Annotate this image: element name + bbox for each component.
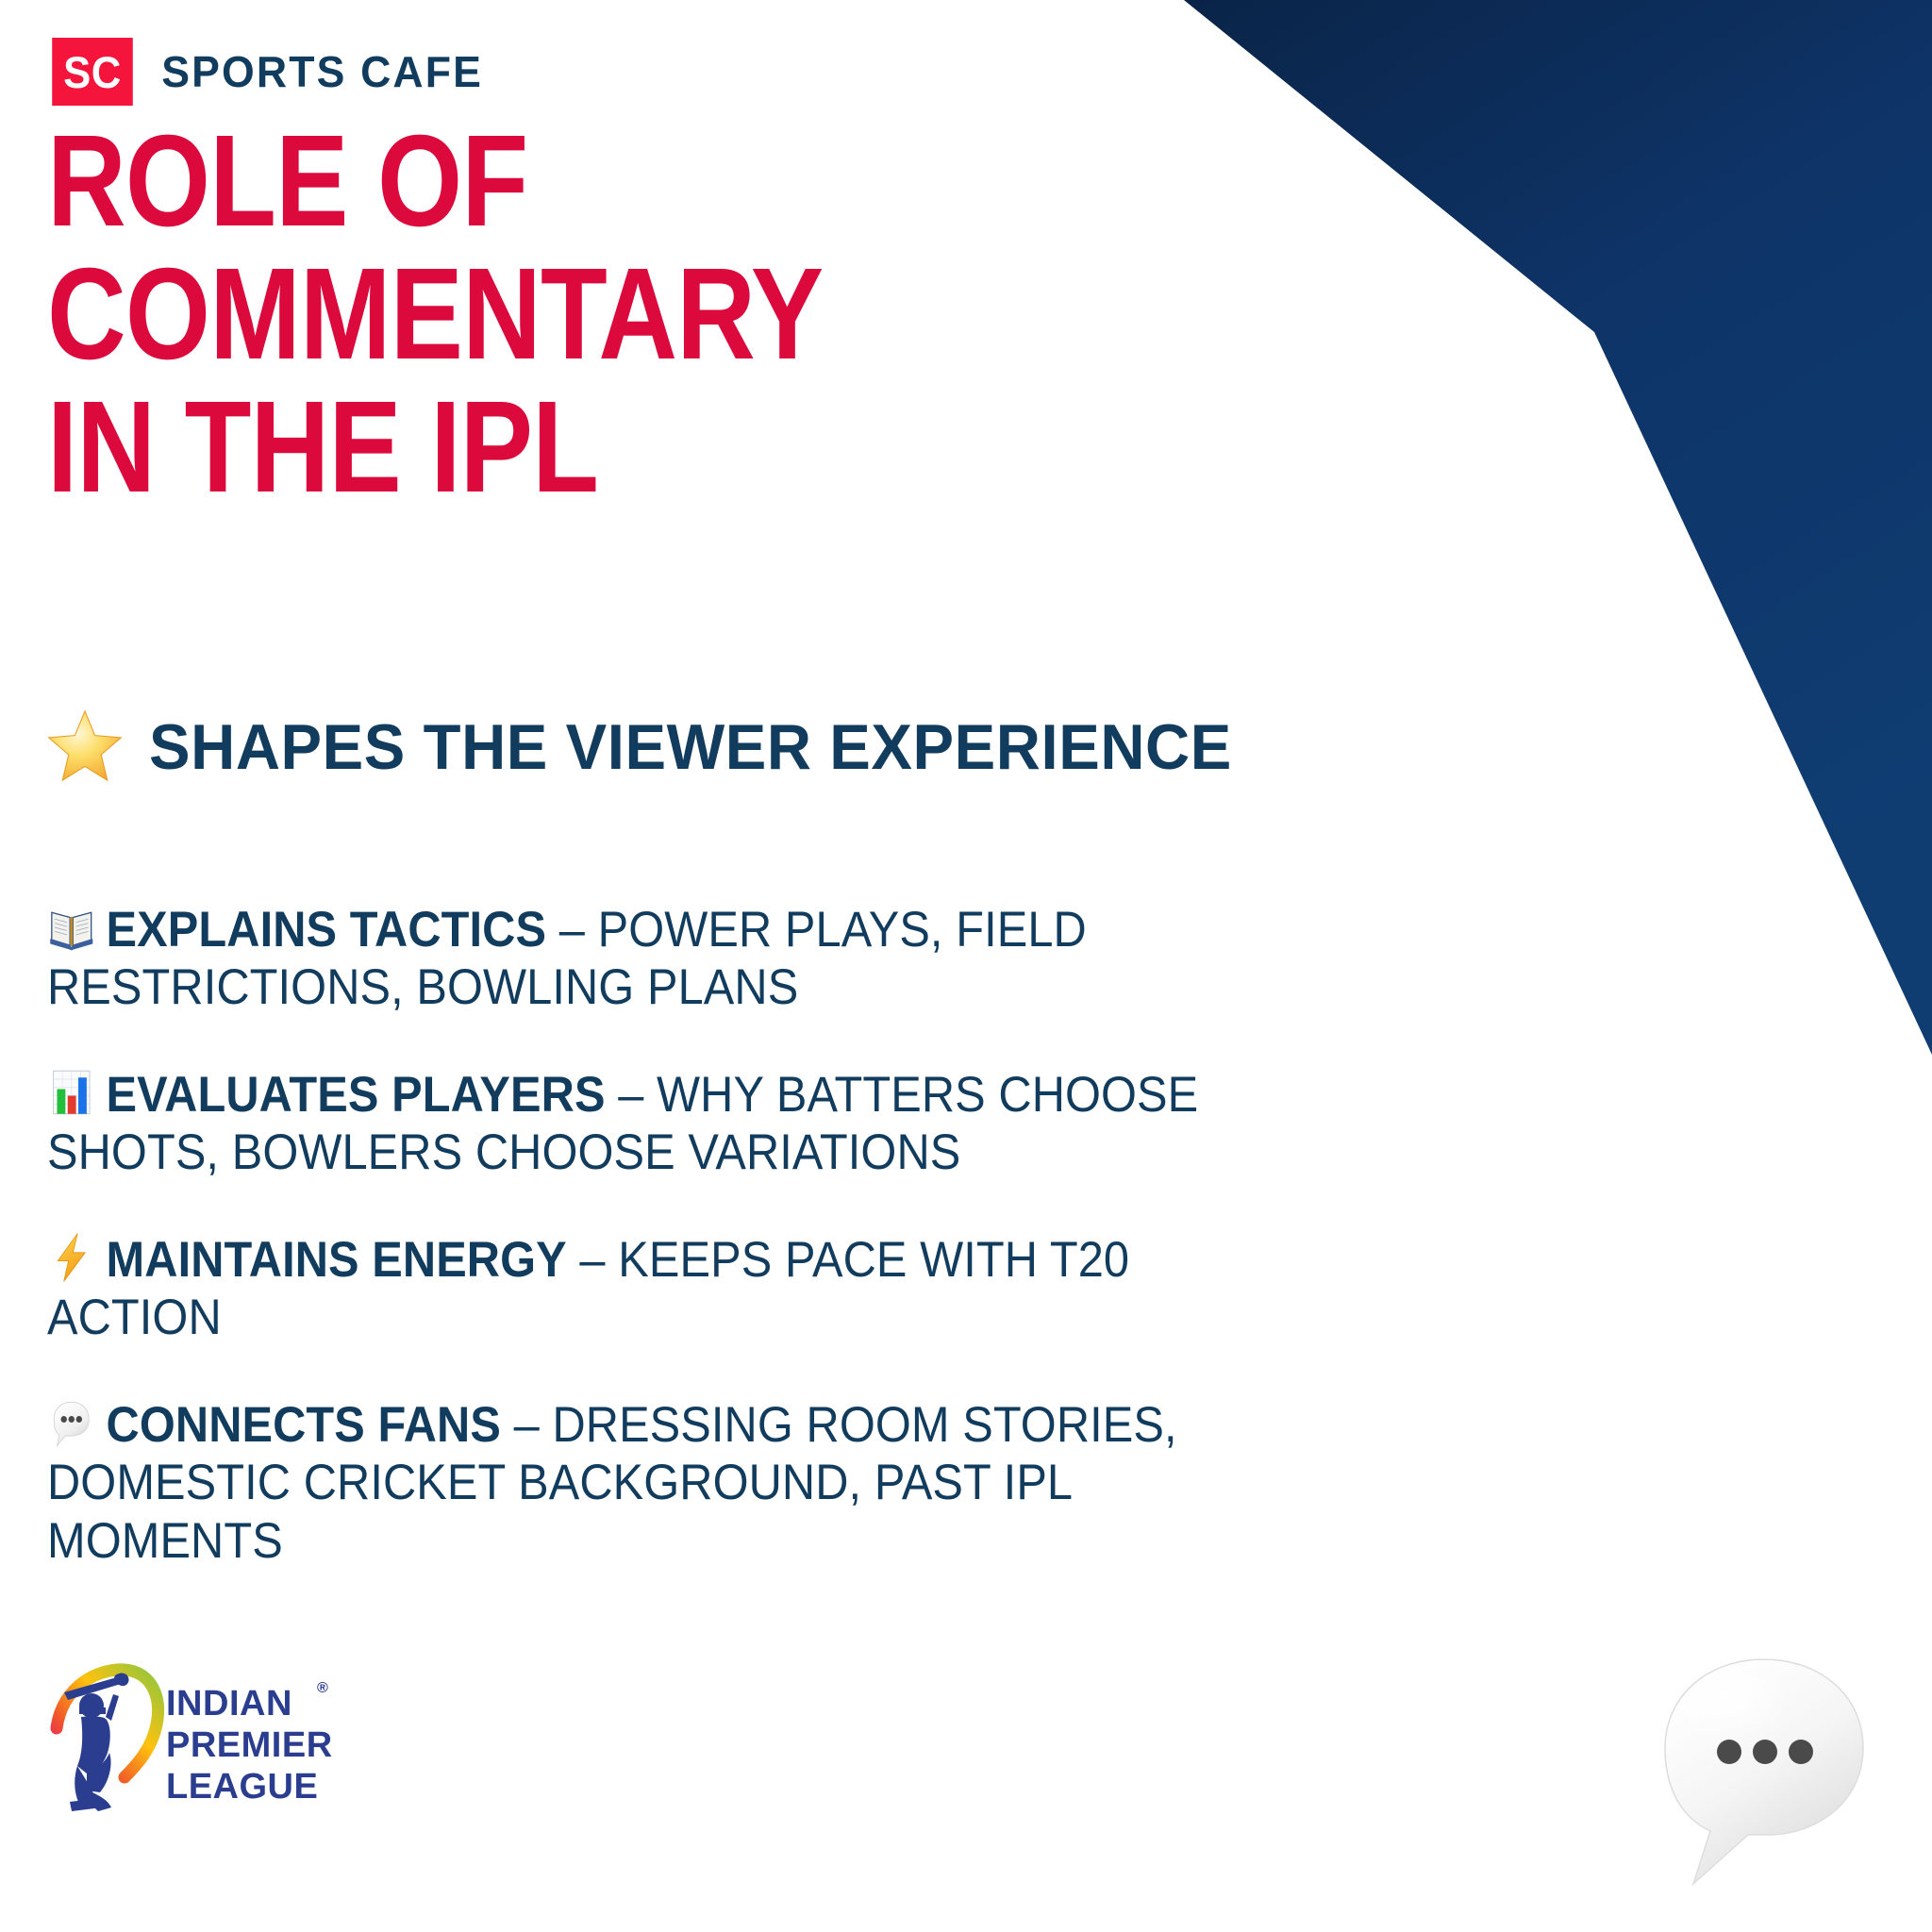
- headline-line-1: ROLE OF: [47, 115, 823, 248]
- page-title: ROLE OF COMMENTARY IN THE IPL: [47, 115, 823, 513]
- ipl-line-1: INDIAN: [166, 1684, 292, 1724]
- brand-name-label: SPORTS CAFE: [161, 46, 483, 97]
- bubble-dot: [1789, 1740, 1813, 1764]
- list-item-dash: –: [501, 1397, 552, 1453]
- ipl-registered-mark: ®: [317, 1680, 328, 1696]
- list-item-dash: –: [606, 1067, 657, 1123]
- subtitle-row: SHAPES THE VIEWER EXPERIENCE: [45, 708, 1277, 787]
- feature-list: EXPLAINS TACTICS – POWER PLAYS, FIELD RE…: [47, 901, 1406, 1619]
- brand-logo: SC SPORTS CAFE: [49, 38, 488, 106]
- subtitle-label: SHAPES THE VIEWER EXPERIENCE: [149, 710, 1232, 784]
- indian-premier-league-logo: INDIAN PREMIER LEAGUE ®: [45, 1660, 347, 1830]
- list-item-dash: –: [546, 902, 597, 958]
- list-item-term: EVALUATES PLAYERS: [107, 1067, 606, 1123]
- bubble-dot: [1753, 1740, 1777, 1764]
- list-item-term: CONNECTS FANS: [107, 1397, 501, 1453]
- speech-balloon-graphic: [1637, 1646, 1891, 1896]
- list-item: EXPLAINS TACTICS – POWER PLAYS, FIELD RE…: [47, 901, 1406, 1017]
- high-voltage-emoji: [47, 1231, 96, 1284]
- list-item: CONNECTS FANS – DRESSING ROOM STORIES, D…: [47, 1396, 1406, 1570]
- ipl-line-2: PREMIER: [166, 1725, 333, 1765]
- batsman-silhouette-icon: [64, 1674, 129, 1811]
- list-item-term: MAINTAINS ENERGY: [107, 1232, 567, 1288]
- headline-line-2: COMMENTARY: [47, 248, 823, 381]
- list-item: MAINTAINS ENERGY – KEEPS PACE WITH T20 A…: [47, 1231, 1406, 1347]
- bubble-dot: [1717, 1740, 1741, 1764]
- list-item-term: EXPLAINS TACTICS: [107, 902, 547, 958]
- list-item-dash: –: [567, 1232, 618, 1288]
- bar-chart-emoji: [47, 1066, 96, 1119]
- list-item: EVALUATES PLAYERS – WHY BATTERS CHOOSE S…: [47, 1066, 1406, 1182]
- sports-cafe-mark-icon: SC: [52, 38, 133, 106]
- speech-balloon-emoji: [47, 1396, 96, 1449]
- star-emoji: [45, 708, 125, 787]
- open-book-emoji: [47, 901, 96, 954]
- headline-line-3: IN THE IPL: [47, 381, 823, 514]
- ipl-line-3: LEAGUE: [166, 1767, 318, 1807]
